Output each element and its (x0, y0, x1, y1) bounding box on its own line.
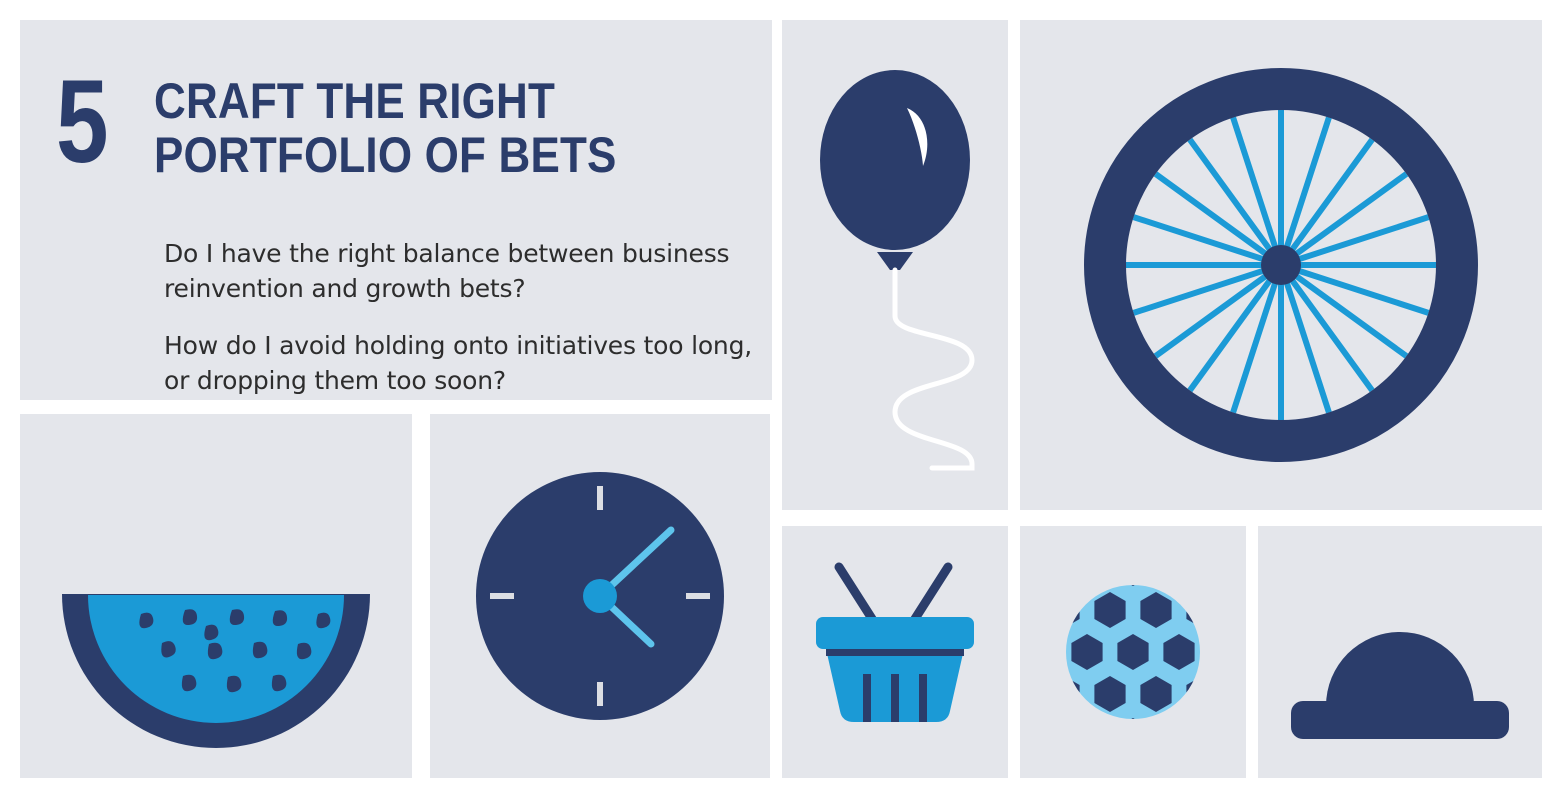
step-number: 5 (56, 68, 117, 177)
question-2: How do I avoid holding onto initiatives … (164, 328, 764, 398)
clock-center-dot-icon (583, 579, 617, 613)
slide-canvas: 5 CRAFT THE RIGHT PORTFOLIO OF BETS Do I… (0, 0, 1560, 800)
soccer-panel (1020, 526, 1246, 778)
basket-handles-group (839, 567, 948, 625)
watermelon-illustration (20, 414, 412, 778)
watermelon-panel (20, 414, 412, 778)
wheel-hub-icon (1261, 245, 1301, 285)
wheel-illustration (1020, 20, 1542, 510)
basket-rim-line-icon (826, 649, 964, 656)
headline-panel: 5 CRAFT THE RIGHT PORTFOLIO OF BETS Do I… (20, 20, 772, 400)
soccer-ball-hexagons-group (1048, 550, 1217, 754)
basket-rim-icon (816, 617, 974, 649)
balloon-body-icon (820, 70, 970, 250)
soccer-ball-illustration (1020, 526, 1246, 778)
basket-illustration (782, 526, 1008, 778)
basket-panel (782, 526, 1008, 778)
hat-crown-icon (1326, 632, 1474, 706)
balloon-string-icon (895, 270, 972, 468)
clock-panel (430, 414, 770, 778)
hat-illustration (1258, 526, 1542, 778)
page-title: CRAFT THE RIGHT PORTFOLIO OF BETS (154, 74, 617, 182)
balloon-panel (782, 20, 1008, 510)
clock-illustration (430, 414, 770, 778)
question-list: Do I have the right balance between busi… (164, 236, 764, 398)
question-1: Do I have the right balance between busi… (164, 236, 764, 306)
hat-panel (1258, 526, 1542, 778)
wheel-panel (1020, 20, 1542, 510)
balloon-knot-icon (877, 252, 913, 270)
hat-brim-icon (1291, 701, 1509, 739)
balloon-illustration (782, 20, 1008, 510)
headline-block: 5 CRAFT THE RIGHT PORTFOLIO OF BETS (56, 68, 680, 182)
